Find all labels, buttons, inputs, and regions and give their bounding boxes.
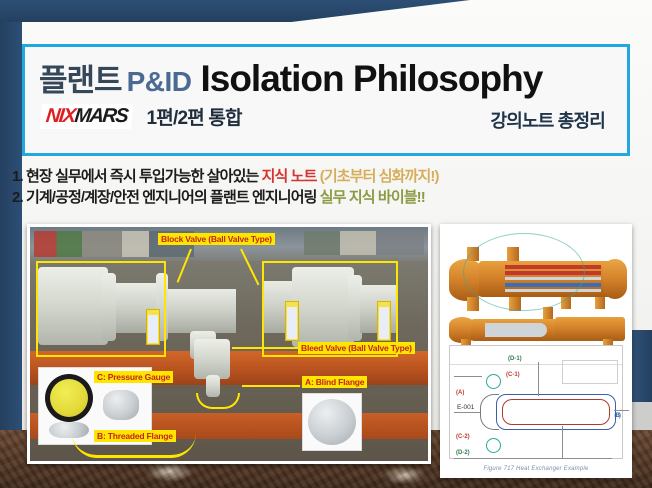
bleed-valve-assembly (194, 339, 230, 379)
pid-header-line-3 (454, 458, 612, 459)
exchanger-2-nozzle-top (543, 307, 553, 319)
exchanger-2-channel (555, 317, 625, 341)
subtitle-label: 1편/2편 통합 (147, 103, 242, 130)
pid-tube-outline (502, 399, 610, 425)
exchanger-2-tube-bundle (485, 323, 547, 337)
pid-tag-d1: (D-1) (508, 356, 522, 362)
heat-exchanger-illustration (443, 227, 629, 339)
blind-flange-leader (242, 385, 300, 387)
photo-background-equipment-right (304, 231, 424, 255)
exchanger-1-bottom-nozzle (467, 297, 479, 311)
bullet-1-suffix: (기초부터 심화까지!) (317, 168, 439, 185)
title-row: 플랜트P&IDIsolation Philosophy (39, 55, 617, 100)
flow-callout-curve-1 (463, 233, 585, 311)
nixmars-logo: NIXMARS (40, 104, 134, 129)
subtitle-right-label: 강의노트 총정리 (490, 107, 605, 133)
page-title-pid: P&ID (127, 66, 192, 97)
bullet-2-highlight: 실무 지식 바이블!! (320, 189, 425, 206)
center-pipe-run (168, 289, 236, 333)
pid-drawing-area: E-001 (A) (B) (C-1) (C-2) (D-1) (D-2) (449, 345, 623, 459)
blind-flange-inset (302, 393, 362, 451)
pid-equipment-tag: E-001 (457, 404, 474, 411)
threaded-flange-curved-leader (72, 433, 196, 458)
navy-left-strip (0, 22, 22, 430)
pid-branch-line-1 (538, 362, 539, 396)
pid-tag-b: (B) (614, 406, 620, 427)
pid-tag-d2: (D-2) (456, 450, 470, 456)
threaded-flange-detail-image (103, 390, 139, 420)
slide-root: 플랜트P&IDIsolation Philosophy NIXMARS 1편/2… (0, 0, 652, 488)
exchanger-1-support-b (595, 297, 605, 309)
page-title-english: Isolation Philosophy (200, 58, 542, 99)
bullet-2-text: 기계/공정/계장/안전 엔지니어의 플랜트 엔지니어링 (26, 189, 320, 206)
pid-tag-c2: (C-2) (456, 434, 470, 440)
diagram-caption: Figure 717 Heat Exchanger Example (443, 466, 629, 472)
title-box: 플랜트P&IDIsolation Philosophy NIXMARS 1편/2… (22, 44, 630, 156)
blind-flange-disc-image (308, 399, 356, 445)
pid-header-line-2 (454, 412, 480, 413)
bullet-item-1: 1. 현장 실무에서 즉시 투입가능한 살아있는 지식 노트 (기초부터 심화까… (12, 166, 642, 187)
pid-detail-block (562, 360, 618, 384)
bullet-list: 1. 현장 실무에서 즉시 투입가능한 살아있는 지식 노트 (기초부터 심화까… (12, 166, 642, 208)
bullet-1-text: 현장 실무에서 즉시 투입가능한 살아있는 (26, 168, 262, 185)
exchanger-1-rear-head (603, 259, 627, 299)
pressure-gauge-image (45, 374, 93, 422)
logo-text-mars: MARS (73, 105, 128, 127)
pid-tag-c1: (C-1) (506, 372, 520, 378)
pid-vessel-left-wall (480, 394, 499, 430)
annotation-bleed-valve: Bleed Valve (Ball Valve Type) (298, 342, 415, 354)
pid-instrument-bubble-bottom (486, 438, 501, 453)
bullet-2-number: 2. (12, 189, 23, 206)
heat-exchanger-pid: E-001 (A) (B) (C-1) (C-2) (D-1) (D-2) Fi… (440, 224, 632, 478)
valve-assembly-photo: Block Valve (Ball Valve Type) Bleed Valv… (27, 224, 431, 464)
bleed-valve-leader (232, 347, 298, 349)
annotation-block-valve: Block Valve (Ball Valve Type) (158, 233, 275, 245)
pid-instrument-bubble-top (486, 374, 501, 389)
page-title-korean: 플랜트 (39, 63, 122, 98)
bullet-1-number: 1. (12, 168, 23, 185)
annotation-blind-flange: A: Blind Flange (302, 376, 367, 388)
pid-tag-a: (A) (456, 390, 464, 396)
bullet-1-highlight: 지식 노트 (262, 168, 317, 185)
annotation-pressure-gauge: C: Pressure Gauge (94, 371, 173, 383)
bullet-item-2: 2. 기계/공정/계장/안전 엔지니어의 플랜트 엔지니어링 실무 지식 바이블… (12, 187, 642, 208)
block-valve-box-left (36, 261, 166, 357)
pid-branch-line-2 (562, 426, 563, 458)
pid-header-line-1 (454, 376, 482, 377)
